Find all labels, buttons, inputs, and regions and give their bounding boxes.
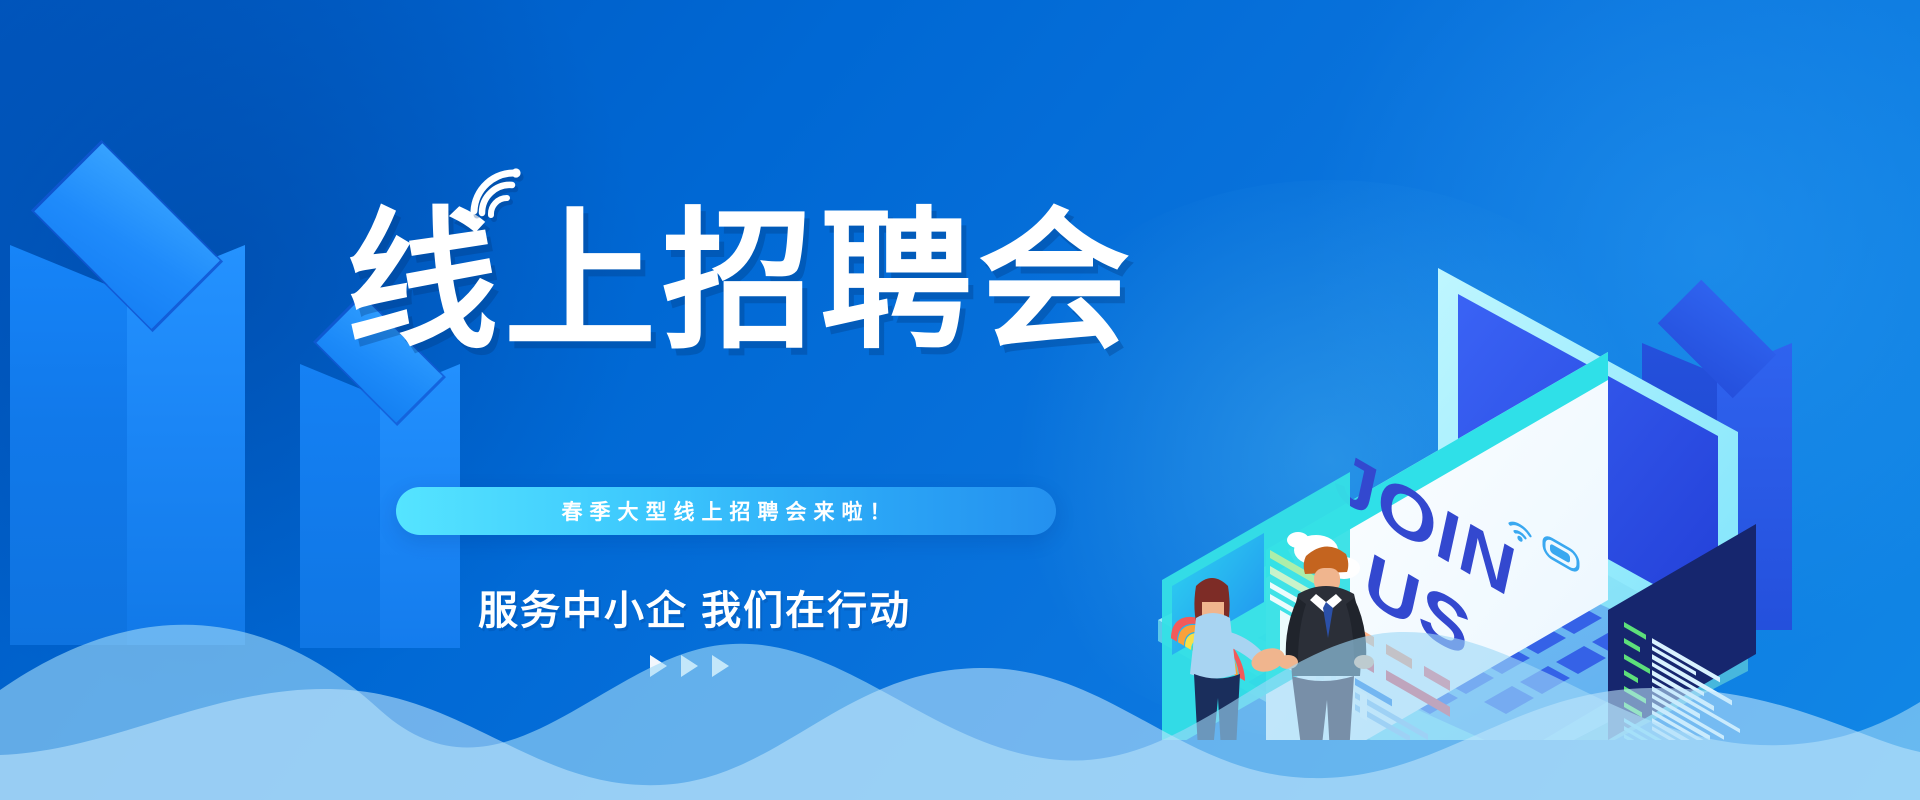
subtitle-pill-label: 春季大型线上招聘会来啦！ xyxy=(555,496,898,526)
online-job-fair-banner: 线上招聘会 春季大型线上招聘会来啦！ 服务中小企 我们在行动 xyxy=(0,0,1920,800)
wave-decoration xyxy=(0,540,1920,800)
subtitle-pill: 春季大型线上招聘会来啦！ xyxy=(396,487,1056,535)
wifi-signal-icon xyxy=(466,167,526,219)
